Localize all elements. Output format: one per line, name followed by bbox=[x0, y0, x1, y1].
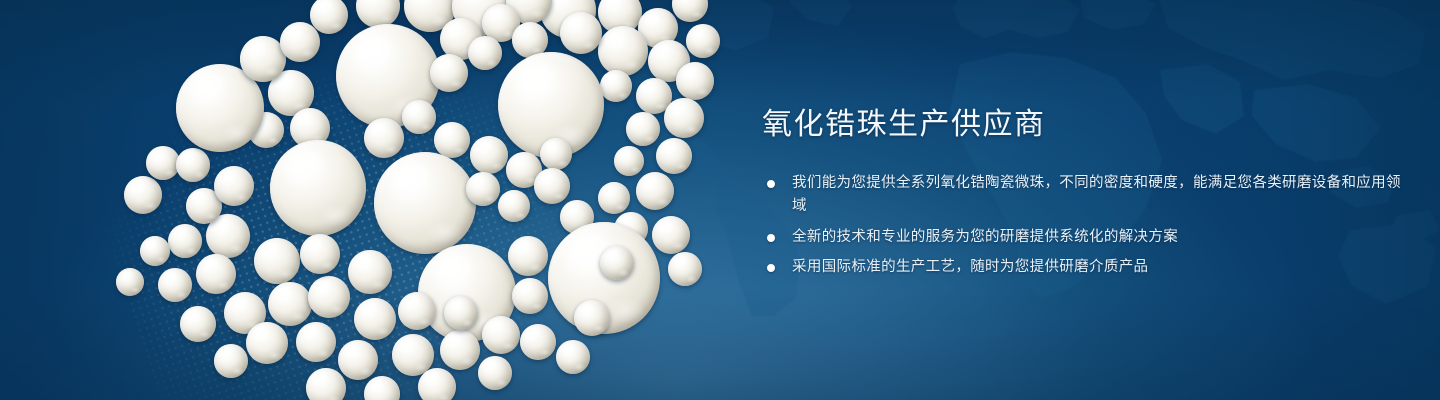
banner-copy: 氧化锆珠生产供应商 我们能为您提供全系列氧化锆陶瓷微珠，不同的密度和硬度，能满足… bbox=[762, 108, 1402, 280]
bullet-text: 全新的技术和专业的服务为您的研磨提供系统化的解决方案 bbox=[792, 229, 1178, 245]
banner-headline: 氧化锆珠生产供应商 bbox=[762, 108, 1402, 142]
bullet-text: 采用国际标准的生产工艺，随时为您提供研磨介质产品 bbox=[792, 259, 1148, 275]
list-item: 全新的技术和专业的服务为您的研磨提供系统化的解决方案 bbox=[762, 226, 1402, 249]
list-item: 我们能为您提供全系列氧化锆陶瓷微珠，不同的密度和硬度，能满足您各类研磨设备和应用… bbox=[762, 172, 1402, 219]
bullet-dot-icon bbox=[767, 264, 775, 272]
bullet-dot-icon bbox=[767, 234, 775, 242]
zirconia-beads-image bbox=[0, 0, 760, 400]
list-item: 采用国际标准的生产工艺，随时为您提供研磨介质产品 bbox=[762, 256, 1402, 279]
bullet-text: 我们能为您提供全系列氧化锆陶瓷微珠，不同的密度和硬度，能满足您各类研磨设备和应用… bbox=[792, 175, 1401, 214]
banner-bullet-list: 我们能为您提供全系列氧化锆陶瓷微珠，不同的密度和硬度，能满足您各类研磨设备和应用… bbox=[762, 172, 1402, 280]
hero-banner: 氧化锆珠生产供应商 我们能为您提供全系列氧化锆陶瓷微珠，不同的密度和硬度，能满足… bbox=[0, 0, 1440, 400]
bullet-dot-icon bbox=[767, 180, 775, 188]
